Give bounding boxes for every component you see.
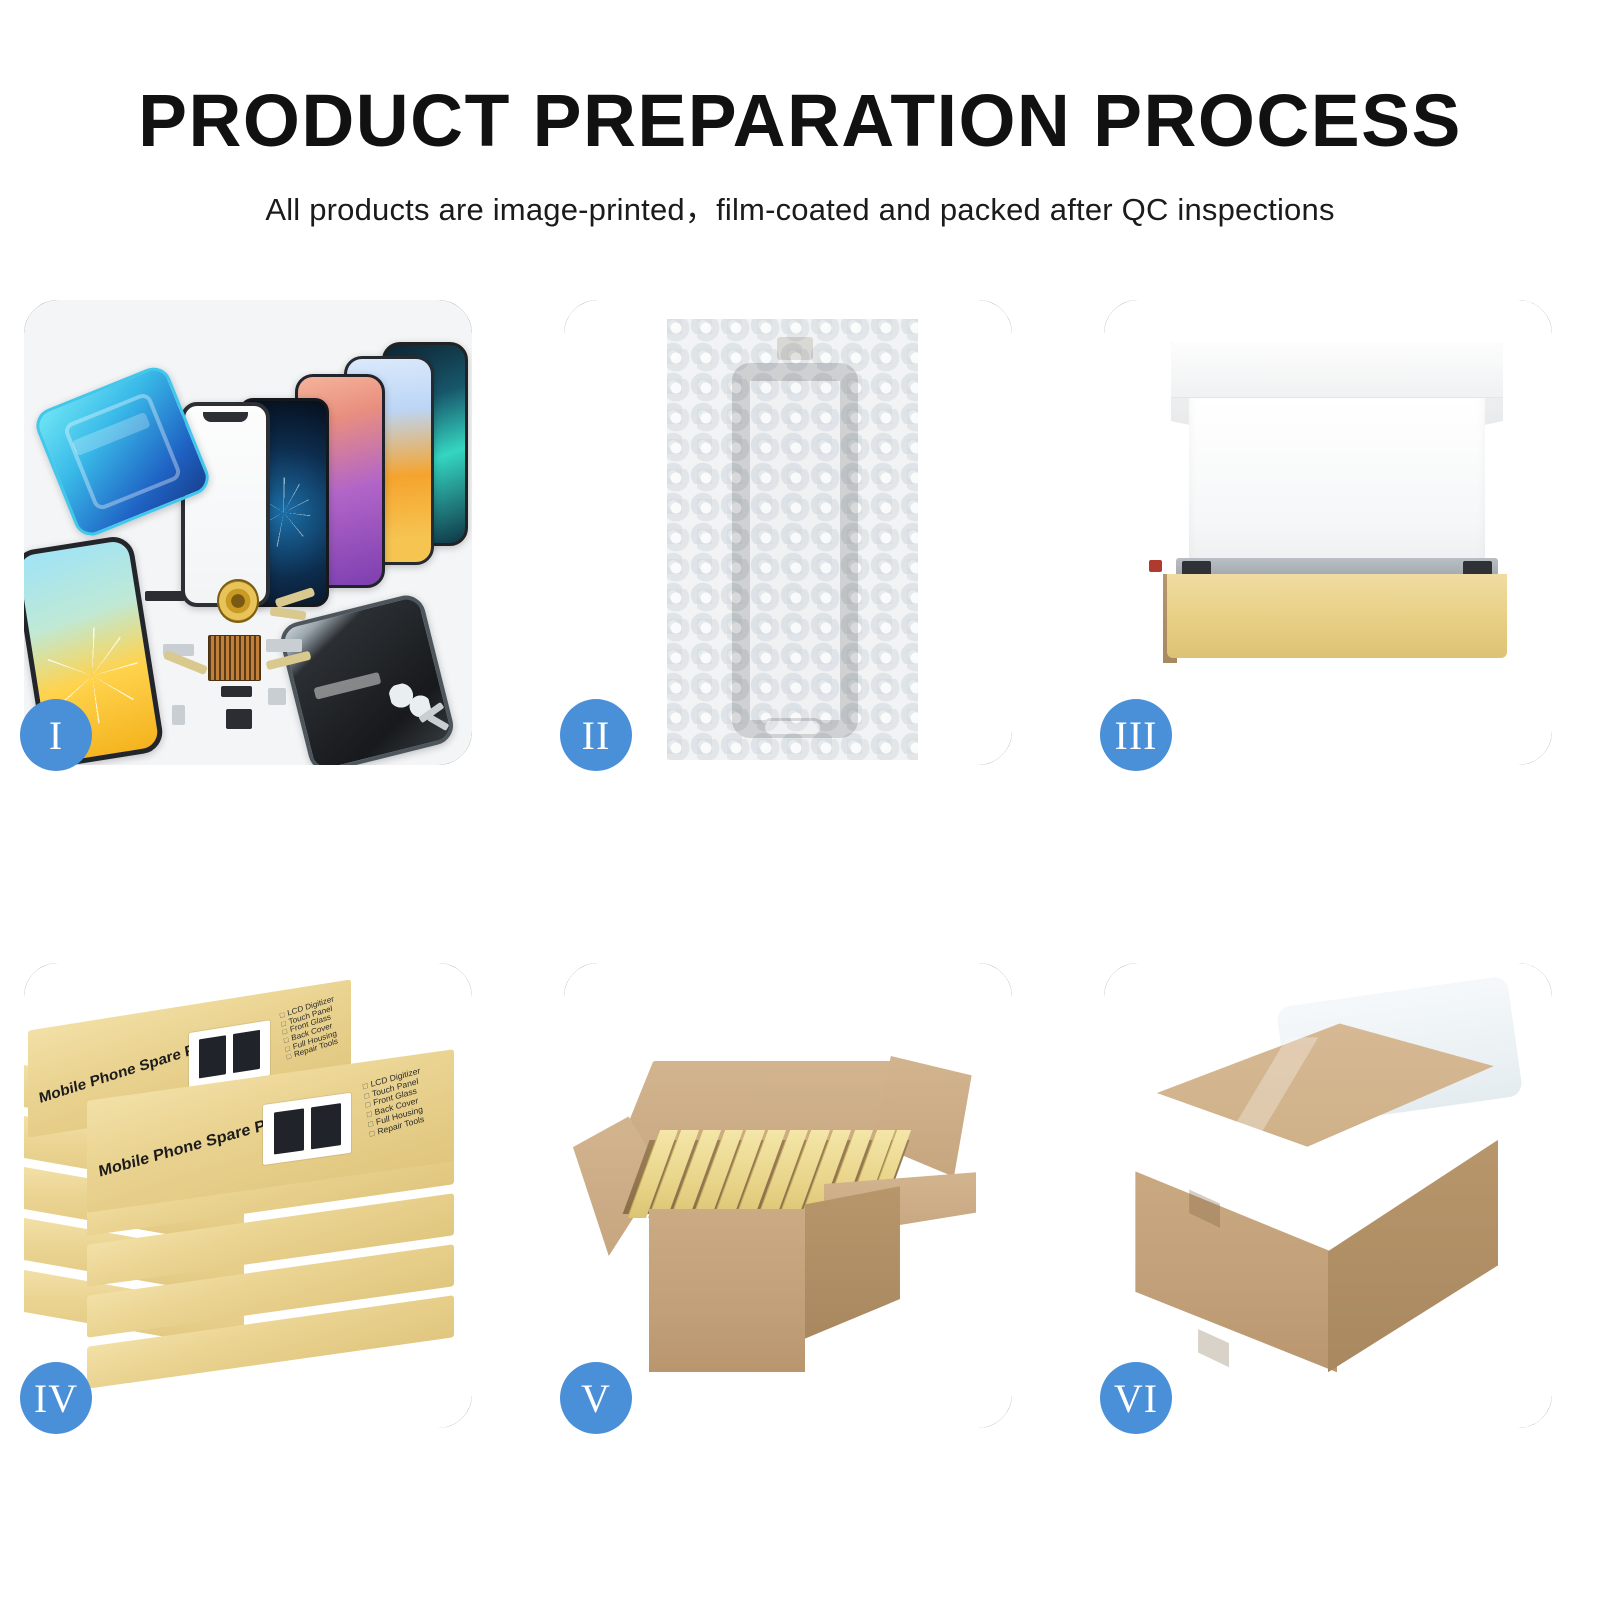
- carton-right-face-image: [805, 1186, 900, 1339]
- retail-box-window-phone-a: [198, 1033, 229, 1080]
- bubble-wrap-scene: [564, 300, 1012, 765]
- panel-badge-3: III: [1100, 699, 1172, 771]
- panel-badge-2: II: [560, 699, 632, 771]
- carton-body-image: [649, 1186, 900, 1372]
- wireless-charging-coil-image: [217, 579, 260, 623]
- retail-box-window-phone-c: [272, 1106, 305, 1156]
- panel-5-open-carton: V: [564, 963, 1012, 1428]
- sealed-carton-front-face-image: [1135, 1149, 1337, 1372]
- panel-2-clip: [564, 300, 1012, 765]
- open-carton-scene: [564, 963, 1012, 1428]
- box-inner-white-wall-image: [1189, 398, 1485, 575]
- process-panel-grid: I II: [0, 0, 1600, 1600]
- panel-5-clip: [564, 963, 1012, 1428]
- spare-parts-scene: [24, 300, 472, 765]
- panel-6-clip: [1104, 963, 1552, 1428]
- stacked-boxes-scene: Mobile Phone Spare Parts LCD Digitizer T…: [24, 963, 472, 1428]
- panel-3-clip: [1104, 300, 1552, 765]
- sealed-carton-side-face-image: [1328, 1140, 1498, 1373]
- sim-tray-image: [172, 705, 185, 726]
- retail-box-window-phone-b: [232, 1028, 263, 1075]
- panel-4-clip: Mobile Phone Spare Parts LCD Digitizer T…: [24, 963, 472, 1428]
- panel-badge-1: I: [20, 699, 92, 771]
- infographic-page: PRODUCT PREPARATION PROCESS All products…: [0, 0, 1600, 1600]
- earpiece-mesh-image: [145, 591, 185, 601]
- panel-badge-5: V: [560, 1362, 632, 1434]
- bubble-wrap-overlay-image: [667, 319, 918, 761]
- speaker-module-image: [226, 709, 253, 729]
- kraft-tray-image: [1167, 574, 1507, 658]
- box-lid-image: [1171, 342, 1503, 398]
- camera-module-image: [268, 688, 286, 705]
- ic-chip-grid-image: [208, 635, 262, 682]
- red-flex-tab-image: [1149, 560, 1162, 571]
- panel-2-bubble-wrapped-screen: II: [564, 300, 1012, 765]
- front-glass-image: [181, 402, 271, 607]
- retail-box-window-phone-d: [309, 1101, 342, 1151]
- inner-box-scene: [1104, 300, 1552, 765]
- panel-3-screen-in-inner-box: III: [1104, 300, 1552, 765]
- panel-badge-6: VI: [1100, 1362, 1172, 1434]
- small-ic-image: [221, 686, 252, 697]
- panel-1-spare-parts: I: [24, 300, 472, 765]
- bubble-wrap-sheet-image: [667, 319, 918, 761]
- carton-tab-lower-image: [1198, 1326, 1229, 1368]
- flex-connector-image: [266, 639, 302, 652]
- panel-4-stacked-retail-boxes: Mobile Phone Spare Parts LCD Digitizer T…: [24, 963, 472, 1428]
- panel-badge-4: IV: [20, 1362, 92, 1434]
- carton-front-face-image: [649, 1209, 805, 1373]
- panel-6-sealed-carton: VI: [1104, 963, 1552, 1428]
- retail-box-window-2: [263, 1092, 351, 1165]
- panel-1-clip: [24, 300, 472, 765]
- sealed-carton-scene: [1104, 963, 1552, 1428]
